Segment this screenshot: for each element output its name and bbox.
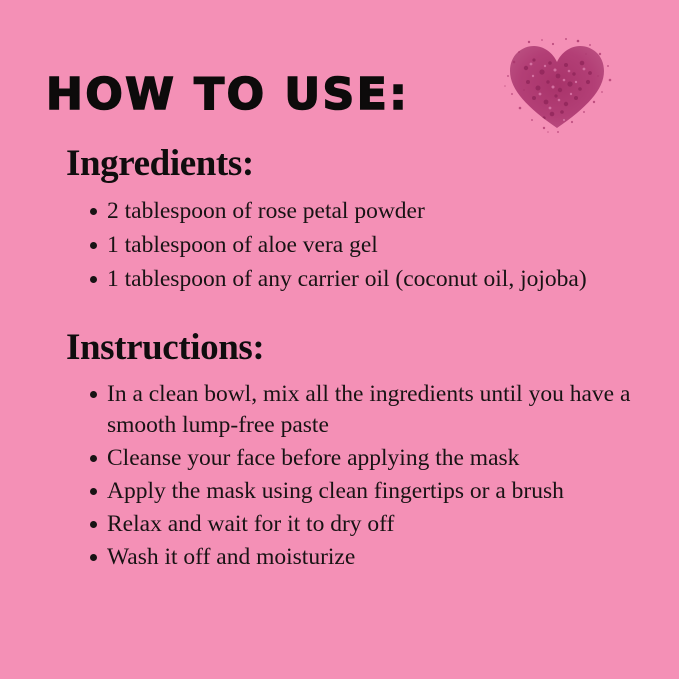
bullet-icon xyxy=(90,554,97,561)
list-item: Cleanse your face before applying the ma… xyxy=(0,443,679,474)
list-item: 2 tablespoon of rose petal powder xyxy=(0,196,679,227)
list-item-text: 2 tablespoon of rose petal powder xyxy=(107,198,425,224)
how-to-use-card: HOW TO USE: xyxy=(0,0,679,679)
list-item-text: 1 tablespoon of any carrier oil (coconut… xyxy=(107,266,587,292)
list-item-text: Relax and wait for it to dry off xyxy=(107,511,394,537)
ingredients-list: 2 tablespoon of rose petal powder 1 tabl… xyxy=(0,196,679,295)
bullet-icon xyxy=(90,242,97,249)
list-item-text: Cleanse your face before applying the ma… xyxy=(107,445,519,471)
list-item: Relax and wait for it to dry off xyxy=(0,509,679,540)
bullet-icon xyxy=(90,208,97,215)
list-item: 1 tablespoon of aloe vera gel xyxy=(0,230,679,261)
section-instructions: Instructions: In a clean bowl, mix all t… xyxy=(0,325,679,575)
instructions-list: In a clean bowl, mix all the ingredients… xyxy=(0,379,679,573)
bullet-icon xyxy=(90,391,97,398)
list-item-text: Wash it off and moisturize xyxy=(107,544,355,570)
bullet-icon xyxy=(90,521,97,528)
bullet-icon xyxy=(90,488,97,495)
rose-petal-powder-heart-icon xyxy=(498,32,616,136)
page-title: HOW TO USE: xyxy=(46,67,409,123)
list-item-text: Apply the mask using clean fingertips or… xyxy=(107,478,564,504)
bullet-icon xyxy=(90,455,97,462)
section-ingredients: Ingredients: 2 tablespoon of rose petal … xyxy=(0,141,679,298)
section-heading-instructions: Instructions: xyxy=(66,325,679,370)
bullet-icon xyxy=(90,276,97,283)
list-item: Apply the mask using clean fingertips or… xyxy=(0,476,679,507)
list-item-text: In a clean bowl, mix all the ingredients… xyxy=(107,381,630,438)
list-item: Wash it off and moisturize xyxy=(0,542,679,573)
list-item-text: 1 tablespoon of aloe vera gel xyxy=(107,232,378,258)
section-heading-ingredients: Ingredients: xyxy=(66,141,679,186)
list-item: In a clean bowl, mix all the ingredients… xyxy=(0,379,679,441)
list-item: 1 tablespoon of any carrier oil (coconut… xyxy=(0,264,679,295)
